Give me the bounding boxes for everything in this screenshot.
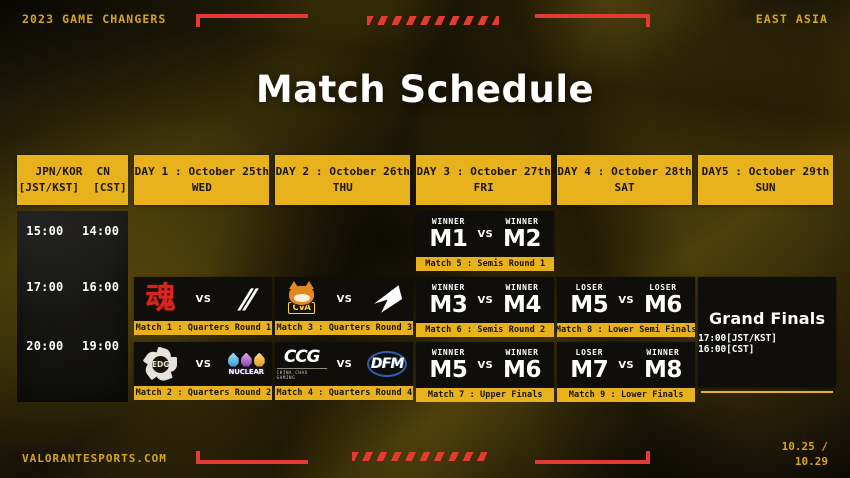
day-4-column: LOSER M5 VS LOSER M6 Match 8 : Lower Sem… xyxy=(557,211,692,402)
day-header-2-title: DAY 2 : October 26th xyxy=(276,164,410,180)
match-8-teams: LOSER M5 VS LOSER M6 xyxy=(557,277,695,323)
match-4-label: Match 4 : Quarters Round 4 xyxy=(275,386,413,400)
day-header-3: DAY 3 : October 27th FRI xyxy=(416,155,551,205)
day-3-column: WINNER M1 VS WINNER M2 Match 5 : Semis R… xyxy=(416,211,551,402)
header-red-bracket-left-icon xyxy=(196,14,308,28)
match-7-seed-b: WINNER M6 xyxy=(503,349,541,382)
day-header-1-title: DAY 1 : October 25th xyxy=(135,164,269,180)
header-red-bracket-right-icon xyxy=(535,14,650,28)
dfm-wordmark: DFM xyxy=(371,356,404,372)
match-2-teams: EDG VS NUCLEAR xyxy=(134,342,272,386)
day-header-5: DAY5 : October 29th SUN xyxy=(698,155,833,205)
footer-date-start: 10.25 / xyxy=(782,440,828,455)
team-logo-nuclear: NUCLEAR xyxy=(221,346,271,382)
match-card-6[interactable]: WINNER M3 VS WINNER M4 Match 6 : Semis R… xyxy=(416,277,554,337)
match-8-seed-b-code: M6 xyxy=(644,294,682,317)
match-8-seed-a-code: M5 xyxy=(570,294,608,317)
day-header-5-title: DAY5 : October 29th xyxy=(702,164,830,180)
footer-date-end: 10.29 xyxy=(782,455,828,470)
time-column-texture xyxy=(17,211,128,402)
timezone-jstkst-label: [JST/KST] xyxy=(19,180,80,196)
match-card-8[interactable]: LOSER M5 VS LOSER M6 Match 8 : Lower Sem… xyxy=(557,277,695,337)
day-header-3-title: DAY 3 : October 27th xyxy=(416,164,550,180)
match-3-vs-label: VS xyxy=(337,294,353,305)
day-2-column: CVA VS Match 3 : Quarters Round 3 xyxy=(275,211,410,402)
time-row-2-cn: 16:00 xyxy=(82,280,119,294)
time-row-3-cn: 19:00 xyxy=(82,339,119,353)
grand-finals-card[interactable]: Grand Finals 17:00[JST/KST] 16:00[CST] xyxy=(698,277,836,387)
match-6-teams: WINNER M3 VS WINNER M4 xyxy=(416,277,554,323)
team-logo-edg: EDG xyxy=(136,346,186,382)
time-row-3-local: 20:00 xyxy=(26,339,63,353)
schedule-grid: JPN/KOR CN [JST/KST] [CST] DAY 1 : Octob… xyxy=(17,155,833,402)
match-card-5[interactable]: WINNER M1 VS WINNER M2 Match 5 : Semis R… xyxy=(416,211,554,271)
match-1-teams: 魂 VS // xyxy=(134,277,272,321)
match-6-vs-label: VS xyxy=(477,295,493,306)
nuclear-wordmark: NUCLEAR xyxy=(229,368,264,376)
match-8-seed-a: LOSER M5 xyxy=(570,284,608,317)
footer-red-bracket-left-icon xyxy=(196,450,308,464)
team-logo-zeta: // xyxy=(221,281,271,317)
match-6-seed-a: WINNER M3 xyxy=(429,284,467,317)
day-header-1-weekday: WED xyxy=(192,180,212,196)
match-9-seed-a-role: LOSER xyxy=(576,349,604,357)
match-8-seed-b: LOSER M6 xyxy=(644,284,682,317)
match-1-vs-label: VS xyxy=(196,294,212,305)
match-2-vs-label: VS xyxy=(196,359,212,370)
match-5-seed-a-code: M1 xyxy=(429,228,467,251)
day-header-2: DAY 2 : October 26th THU xyxy=(275,155,410,205)
timezone-cst-label: [CST] xyxy=(93,180,127,196)
match-3-teams: CVA VS xyxy=(275,277,413,321)
page-title: Match Schedule xyxy=(0,68,850,111)
match-5-seed-b-code: M2 xyxy=(503,228,541,251)
day-header-4-title: DAY 4 : October 28th xyxy=(557,164,691,180)
match-5-vs-label: VS xyxy=(477,229,493,240)
day-header-1: DAY 1 : October 25th WED xyxy=(134,155,269,205)
ccg-wordmark: CCG xyxy=(284,349,319,366)
grand-finals-underline xyxy=(701,391,833,393)
match-9-label: Match 9 : Lower Finals xyxy=(557,388,695,402)
match-card-1[interactable]: 魂 VS // Match 1 : Quarters Round 1 xyxy=(134,277,272,335)
day-header-2-weekday: THU xyxy=(333,180,353,196)
match-5-seed-b: WINNER M2 xyxy=(503,218,541,251)
time-row-1: 15:00 14:00 xyxy=(17,224,128,238)
team-logo-arrow xyxy=(362,281,412,317)
match-4-vs-label: VS xyxy=(337,359,353,370)
match-9-seed-b-role: WINNER xyxy=(646,349,679,357)
match-6-seed-b: WINNER M4 xyxy=(503,284,541,317)
time-row-2: 17:00 16:00 xyxy=(17,280,128,294)
day-header-4-weekday: SAT xyxy=(615,180,635,196)
time-row-1-cn: 14:00 xyxy=(82,224,119,238)
cva-mascot-icon: CVA xyxy=(283,281,321,317)
match-8-seed-a-role: LOSER xyxy=(576,284,604,292)
match-6-seed-b-role: WINNER xyxy=(506,284,539,292)
match-1-label: Match 1 : Quarters Round 1 xyxy=(134,321,272,335)
match-4-teams: CCG CHINA CHAO GAMING VS DFM xyxy=(275,342,413,386)
footer-date-range: 10.25 / 10.29 xyxy=(782,440,828,470)
timezone-cn-label: CN xyxy=(97,164,110,180)
match-5-seed-b-role: WINNER xyxy=(506,218,539,226)
timezone-jpnkor-label: JPN/KOR xyxy=(35,164,82,180)
match-7-vs-label: VS xyxy=(477,360,493,371)
day-header-5-weekday: SUN xyxy=(755,180,775,196)
team-1b-mark: // xyxy=(240,286,253,313)
match-5-seed-a: WINNER M1 xyxy=(429,218,467,251)
dfm-emblem-icon: DFM xyxy=(365,349,409,379)
match-schedule-poster: 2023 GAME CHANGERS EAST ASIA Match Sched… xyxy=(0,0,850,478)
timezone-header: JPN/KOR CN [JST/KST] [CST] xyxy=(17,155,128,205)
schedule-header-row: JPN/KOR CN [JST/KST] [CST] DAY 1 : Octob… xyxy=(17,155,833,205)
match-6-seed-a-role: WINNER xyxy=(432,284,465,292)
time-row-3: 20:00 19:00 xyxy=(17,339,128,353)
match-card-2[interactable]: EDG VS NUCLEAR xyxy=(134,342,272,400)
match-8-seed-b-role: LOSER xyxy=(649,284,677,292)
nuclear-flames-icon: NUCLEAR xyxy=(228,353,265,376)
match-2-label: Match 2 : Quarters Round 2 xyxy=(134,386,272,400)
team-logo-zeta-kanji: 魂 xyxy=(136,281,186,317)
match-5-label: Match 5 : Semis Round 1 xyxy=(416,257,554,271)
match-card-4[interactable]: CCG CHINA CHAO GAMING VS DFM Mat xyxy=(275,342,413,400)
grand-finals-title: Grand Finals xyxy=(709,309,825,328)
team-1a-mark: 魂 xyxy=(146,284,176,314)
match-7-seed-b-code: M6 xyxy=(503,359,541,382)
match-7-seed-b-role: WINNER xyxy=(506,349,539,357)
team-logo-dfm: DFM xyxy=(362,346,412,382)
ccg-subtitle: CHINA CHAO GAMING xyxy=(277,368,327,380)
schedule-body-row: 15:00 14:00 17:00 16:00 20:00 19:00 xyxy=(17,211,833,402)
grand-finals-time: 17:00[JST/KST] 16:00[CST] xyxy=(698,333,836,355)
match-9-seed-a-code: M7 xyxy=(570,359,608,382)
header-red-hatch-icon xyxy=(367,16,499,25)
ccg-wordmark-icon: CCG CHINA CHAO GAMING xyxy=(277,349,327,380)
match-card-7[interactable]: WINNER M5 VS WINNER M6 Match 7 : Upper F… xyxy=(416,342,554,402)
match-card-9[interactable]: LOSER M7 VS WINNER M8 Match 9 : Lower Fi… xyxy=(557,342,695,402)
match-7-seed-a-code: M5 xyxy=(429,359,467,382)
header-brand-left: 2023 GAME CHANGERS xyxy=(22,12,166,26)
match-6-label: Match 6 : Semis Round 2 xyxy=(416,323,554,337)
time-row-1-local: 15:00 xyxy=(26,224,63,238)
edg-emblem-icon: EDG xyxy=(143,346,179,382)
match-9-seed-b: WINNER M8 xyxy=(644,349,682,382)
arrow-mark-icon xyxy=(372,284,402,314)
team-logo-cva: CVA xyxy=(277,281,327,317)
match-9-vs-label: VS xyxy=(618,360,634,371)
match-7-seed-a-role: WINNER xyxy=(432,349,465,357)
match-6-seed-a-code: M3 xyxy=(429,294,467,317)
time-column: 15:00 14:00 17:00 16:00 20:00 19:00 xyxy=(17,211,128,402)
match-7-seed-a: WINNER M5 xyxy=(429,349,467,382)
day-header-3-weekday: FRI xyxy=(474,180,494,196)
match-9-teams: LOSER M7 VS WINNER M8 xyxy=(557,342,695,388)
header-region-label: EAST ASIA xyxy=(756,12,828,26)
edg-emblem-text: EDG xyxy=(150,354,171,375)
match-7-teams: WINNER M5 VS WINNER M6 xyxy=(416,342,554,388)
day-5-column: Grand Finals 17:00[JST/KST] 16:00[CST] xyxy=(698,211,833,402)
day-1-column: 魂 VS // Match 1 : Quarters Round 1 xyxy=(134,211,269,402)
match-5-seed-a-role: WINNER xyxy=(432,218,465,226)
match-6-seed-b-code: M4 xyxy=(503,294,541,317)
match-8-vs-label: VS xyxy=(618,295,634,306)
match-5-teams: WINNER M1 VS WINNER M2 xyxy=(416,211,554,257)
match-7-label: Match 7 : Upper Finals xyxy=(416,388,554,402)
footer-red-bracket-right-icon xyxy=(535,450,650,464)
match-8-label: Match 8 : Lower Semi Finals xyxy=(557,323,695,337)
match-card-3[interactable]: CVA VS Match 3 : Quarters Round 3 xyxy=(275,277,413,335)
match-9-seed-a: LOSER M7 xyxy=(570,349,608,382)
footer-red-hatch-icon xyxy=(352,452,487,461)
match-3-label: Match 3 : Quarters Round 3 xyxy=(275,321,413,335)
team-logo-ccg: CCG CHINA CHAO GAMING xyxy=(277,346,327,382)
day-header-4: DAY 4 : October 28th SAT xyxy=(557,155,692,205)
footer-website[interactable]: VALORANTESPORTS.COM xyxy=(22,452,167,465)
match-9-seed-b-code: M8 xyxy=(644,359,682,382)
time-row-2-local: 17:00 xyxy=(26,280,63,294)
